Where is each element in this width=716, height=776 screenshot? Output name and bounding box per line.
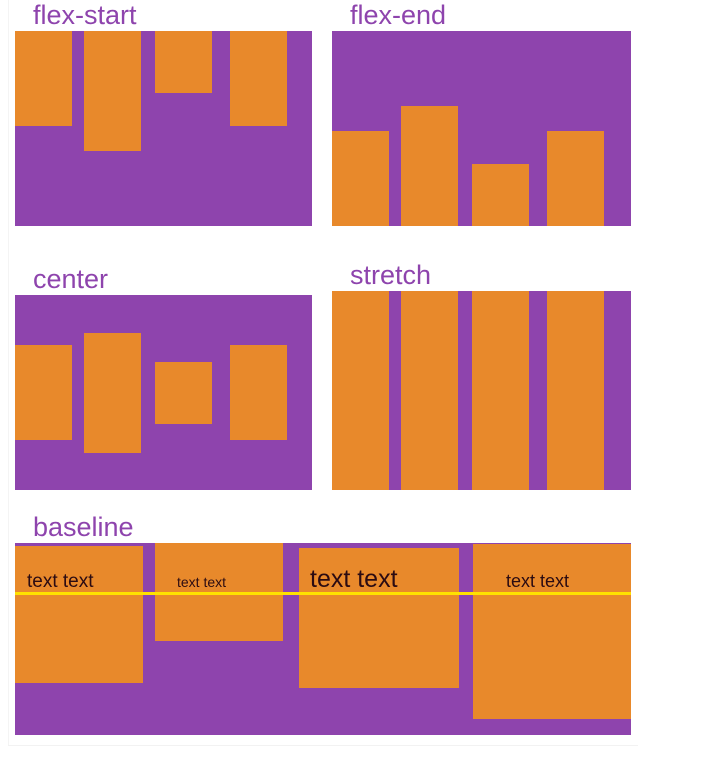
demo-center: center — [15, 295, 312, 490]
flex-item-stretch-4 — [547, 291, 604, 490]
demo-flex-end: flex-end — [332, 31, 631, 226]
flex-item-flex-end-3 — [472, 164, 529, 226]
bottom-separator — [8, 745, 638, 746]
demo-title-flex-end: flex-end — [350, 0, 446, 31]
flex-container-baseline: text texttext texttext texttext text — [15, 543, 631, 735]
flex-item-center-1 — [15, 345, 72, 440]
demo-flex-start: flex-start — [15, 31, 312, 226]
flex-container-center — [15, 295, 312, 490]
flex-item-flex-start-2 — [84, 31, 141, 151]
flex-item-flex-end-1 — [332, 131, 389, 226]
flex-item-center-4 — [230, 345, 287, 440]
flex-item-stretch-3 — [472, 291, 529, 490]
flex-item-center-3 — [155, 362, 212, 424]
flex-item-baseline-1: text text — [15, 546, 143, 683]
flex-container-stretch — [332, 291, 631, 490]
demo-title-flex-start: flex-start — [33, 0, 137, 31]
flex-item-flex-start-1 — [15, 31, 72, 126]
flex-item-center-2 — [84, 333, 141, 453]
flex-item-flex-start-3 — [155, 31, 212, 93]
flex-container-flex-start — [15, 31, 312, 226]
flex-item-flex-end-2 — [401, 106, 458, 226]
flex-item-stretch-1 — [332, 291, 389, 490]
demo-title-baseline: baseline — [33, 512, 134, 543]
flex-item-label: text text — [177, 573, 283, 591]
demo-title-center: center — [33, 264, 108, 295]
left-separator — [8, 0, 9, 745]
demo-baseline: baselinetext texttext texttext texttext … — [15, 543, 631, 735]
page-root: flex-startflex-endcenterstretchbaselinet… — [0, 0, 716, 776]
flex-item-flex-end-4 — [547, 131, 604, 226]
flex-item-baseline-2: text text — [155, 543, 283, 641]
demo-title-stretch: stretch — [350, 260, 431, 291]
demo-stretch: stretch — [332, 291, 631, 490]
flex-item-flex-start-4 — [230, 31, 287, 126]
flex-container-flex-end — [332, 31, 631, 226]
flex-item-stretch-2 — [401, 291, 458, 490]
flex-item-baseline-4: text text — [473, 544, 631, 719]
flex-item-baseline-3: text text — [299, 548, 459, 688]
flex-item-label: text text — [310, 565, 459, 594]
flex-item-label: text text — [27, 570, 143, 593]
flex-item-label: text text — [506, 570, 631, 592]
